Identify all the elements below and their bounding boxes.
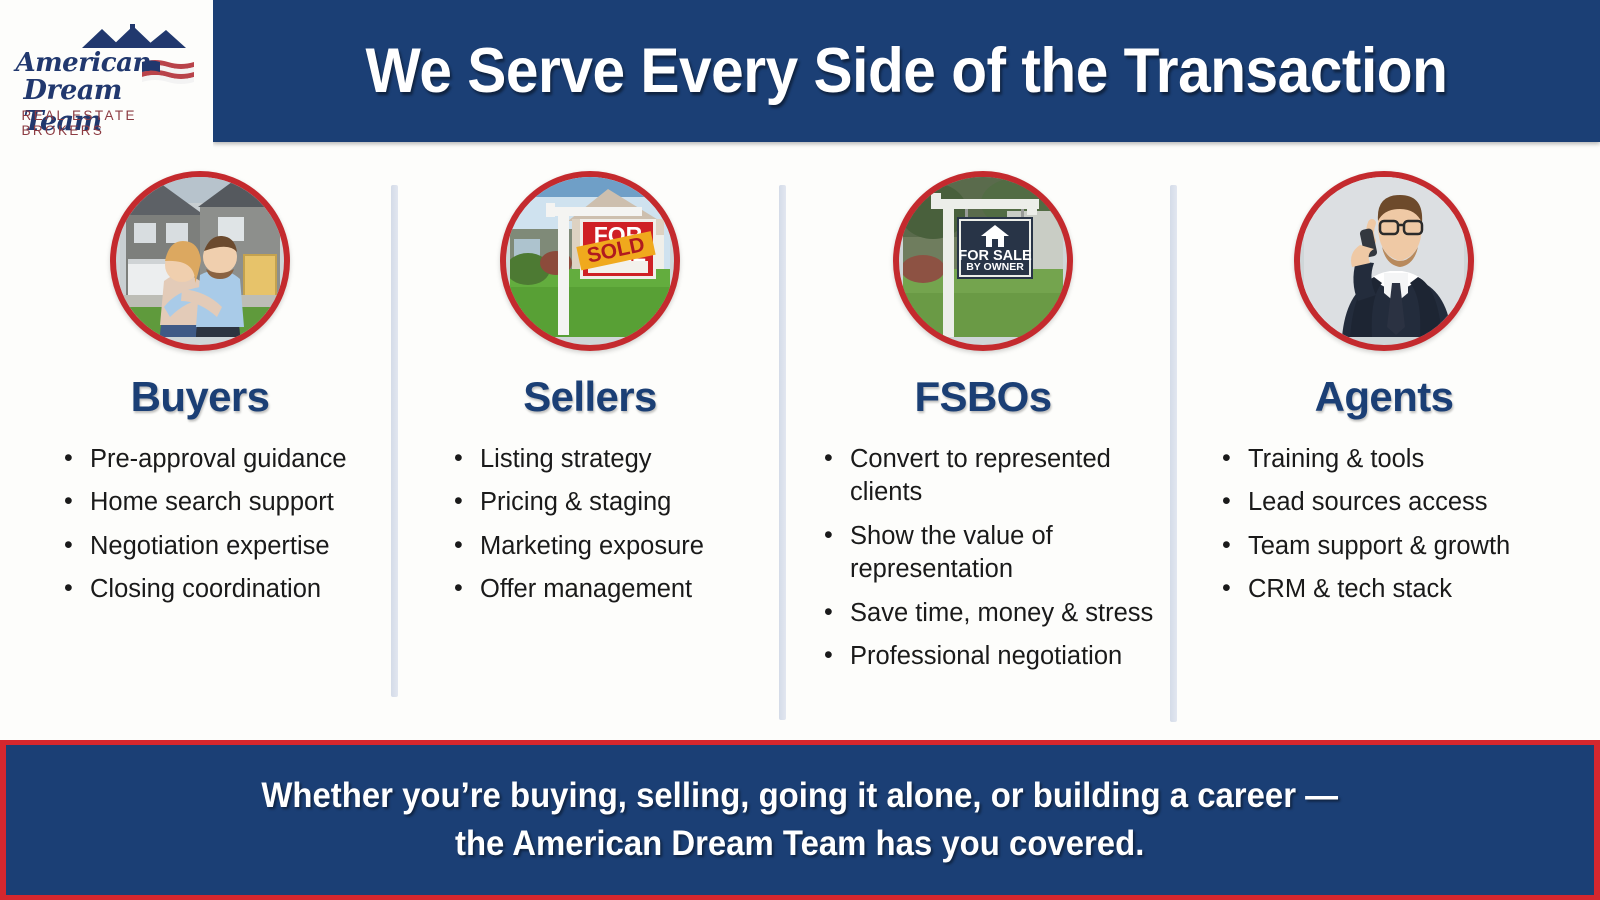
list-item: Home search support bbox=[64, 486, 380, 519]
column-divider bbox=[391, 185, 398, 697]
column-title-agents: Agents bbox=[1188, 373, 1580, 421]
column-divider bbox=[1170, 185, 1177, 722]
agent-on-phone-illustration bbox=[1304, 177, 1464, 337]
list-item: Lead sources access bbox=[1222, 486, 1580, 519]
column-title-fsbos: FSBOs bbox=[798, 373, 1168, 421]
list-item: Pre-approval guidance bbox=[64, 443, 380, 476]
page-title: We Serve Every Side of the Transaction bbox=[262, 0, 1552, 142]
sellers-photo: FOR SALE SOLD bbox=[500, 171, 680, 351]
svg-text:BY OWNER: BY OWNER bbox=[966, 261, 1024, 273]
list-item: Save time, money & stress bbox=[824, 597, 1168, 630]
list-item: Offer management bbox=[454, 573, 770, 606]
logo-tagline: REAL ESTATE BROKERS bbox=[22, 108, 202, 138]
list-item: Closing coordination bbox=[64, 573, 380, 606]
sellers-bullet-list: Listing strategy Pricing & staging Marke… bbox=[410, 443, 770, 607]
column-title-sellers: Sellers bbox=[410, 373, 770, 421]
list-item: Convert to represented clients bbox=[824, 443, 1168, 510]
list-item: Negotiation expertise bbox=[64, 530, 380, 563]
sold-yard-sign-illustration: FOR SALE SOLD bbox=[510, 177, 670, 337]
buyers-bullet-list: Pre-approval guidance Home search suppor… bbox=[20, 443, 380, 607]
column-fsbos: FOR SALE BY OWNER FSBOs Convert to repre… bbox=[798, 160, 1168, 683]
infographic-page: We Serve Every Side of the Transaction A… bbox=[0, 0, 1600, 900]
logo-line-1: American bbox=[16, 48, 151, 78]
column-sellers: FOR SALE SOLD Sellers Listing strateg bbox=[410, 160, 770, 617]
rooftops-icon bbox=[80, 24, 188, 50]
agents-bullet-list: Training & tools Lead sources access Tea… bbox=[1188, 443, 1580, 607]
list-item: Professional negotiation bbox=[824, 640, 1168, 673]
column-buyers: Buyers Pre-approval guidance Home search… bbox=[20, 160, 380, 617]
list-item: Show the value of representation bbox=[824, 520, 1168, 587]
column-title-buyers: Buyers bbox=[20, 373, 380, 421]
header: We Serve Every Side of the Transaction A… bbox=[0, 0, 1600, 150]
column-agents: Agents Training & tools Lead sources acc… bbox=[1188, 160, 1580, 617]
couple-in-front-of-house-illustration bbox=[120, 177, 280, 337]
list-item: Training & tools bbox=[1222, 443, 1580, 476]
fsbos-bullet-list: Convert to represented clients Show the … bbox=[798, 443, 1168, 673]
list-item: Listing strategy bbox=[454, 443, 770, 476]
for-sale-by-owner-sign-illustration: FOR SALE BY OWNER bbox=[903, 177, 1063, 337]
list-item: CRM & tech stack bbox=[1222, 573, 1580, 606]
buyers-photo bbox=[110, 171, 290, 351]
list-item: Team support & growth bbox=[1222, 530, 1580, 563]
fsbos-photo: FOR SALE BY OWNER bbox=[893, 171, 1073, 351]
list-item: Marketing exposure bbox=[454, 530, 770, 563]
footer-banner: Whether you’re buying, selling, going it… bbox=[0, 740, 1600, 900]
brand-logo: American Dream Team REAL ESTATE BROKERS bbox=[0, 0, 213, 150]
list-item: Pricing & staging bbox=[454, 486, 770, 519]
agents-photo bbox=[1294, 171, 1474, 351]
column-divider bbox=[779, 185, 786, 720]
footer-line-1: Whether you’re buying, selling, going it… bbox=[262, 772, 1339, 820]
audience-columns: Buyers Pre-approval guidance Home search… bbox=[0, 160, 1600, 730]
footer-line-2: the American Dream Team has you covered. bbox=[455, 820, 1144, 868]
